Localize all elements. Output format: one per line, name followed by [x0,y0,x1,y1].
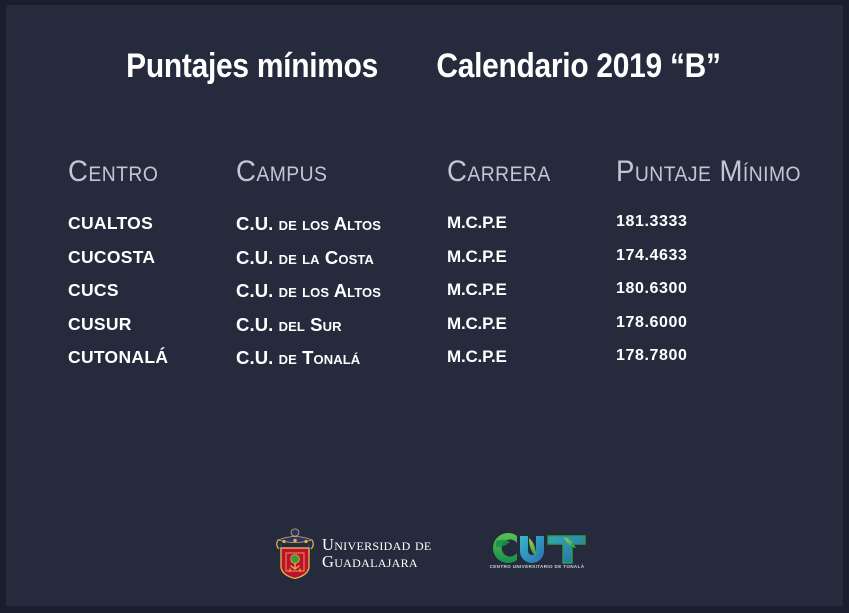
cell-carrera: M.C.P.E [447,213,507,233]
udeg-wordmark-line2: Guadalajara [322,553,432,570]
cell-carrera: M.C.P.E [447,280,507,300]
column-header-carrera: Carrera [447,155,551,189]
cell-campus: C.U. de los Altos [236,213,381,235]
title-part-1: Puntajes mínimos [126,47,378,86]
cell-centro: CUCOSTA [68,247,155,268]
table-header-row: Centro Campus Carrera Puntaje Mínimo [6,155,843,213]
scores-table: Centro Campus Carrera Puntaje Mínimo CUA… [6,155,843,381]
cell-puntaje: 181.3333 [616,213,688,231]
cell-campus: C.U. de la Costa [236,247,374,269]
cell-carrera: M.C.P.E [447,347,507,367]
cell-campus: C.U. de los Altos [236,280,381,302]
cell-centro: CUALTOS [68,213,153,234]
table-row: CUSUR C.U. del Sur M.C.P.E 178.6000 [6,314,843,348]
udeg-wordmark: Universidad de Guadalajara [322,536,432,570]
cell-puntaje: 178.6000 [616,314,688,332]
table-row: CUCOSTA C.U. de la Costa M.C.P.E 174.463… [6,247,843,281]
cell-carrera: M.C.P.E [447,247,507,267]
table-row: CUALTOS C.U. de los Altos M.C.P.E 181.33… [6,213,843,247]
footer-logos: Universidad de Guadalajara [6,528,843,584]
slide-frame: Puntajes mínimosCalendario 2019 “B” Cent… [0,0,849,613]
cell-puntaje: 180.6300 [616,280,688,298]
page-title: Puntajes mínimosCalendario 2019 “B” [6,47,843,86]
cell-centro: CUCS [68,280,119,301]
cell-campus: C.U. del Sur [236,314,342,336]
cell-campus: C.U. de Tonalá [236,347,360,369]
table-row: CUCS C.U. de los Altos M.C.P.E 180.6300 [6,280,843,314]
column-header-centro: Centro [68,155,158,189]
cut-monogram-icon [484,530,589,566]
column-header-campus: Campus [236,155,327,189]
title-part-2: Calendario 2019 “B” [436,47,720,86]
cut-logo: CENTRO UNIVERSITARIO DE TONALÁ [484,530,589,580]
slide-canvas: Puntajes mínimosCalendario 2019 “B” Cent… [6,5,843,606]
table-row: CUTONALÁ C.U. de Tonalá M.C.P.E 178.7800 [6,347,843,381]
cell-centro: CUSUR [68,314,132,335]
universidad-de-guadalajara-logo: Universidad de Guadalajara [272,528,447,580]
udeg-shield-icon [272,528,318,580]
cell-centro: CUTONALÁ [68,347,168,368]
cell-puntaje: 178.7800 [616,347,688,365]
cell-carrera: M.C.P.E [447,314,507,334]
column-header-puntaje-minimo: Puntaje Mínimo [616,155,801,189]
cell-puntaje: 174.4633 [616,247,688,265]
cut-tagline: CENTRO UNIVERSITARIO DE TONALÁ [486,564,588,569]
